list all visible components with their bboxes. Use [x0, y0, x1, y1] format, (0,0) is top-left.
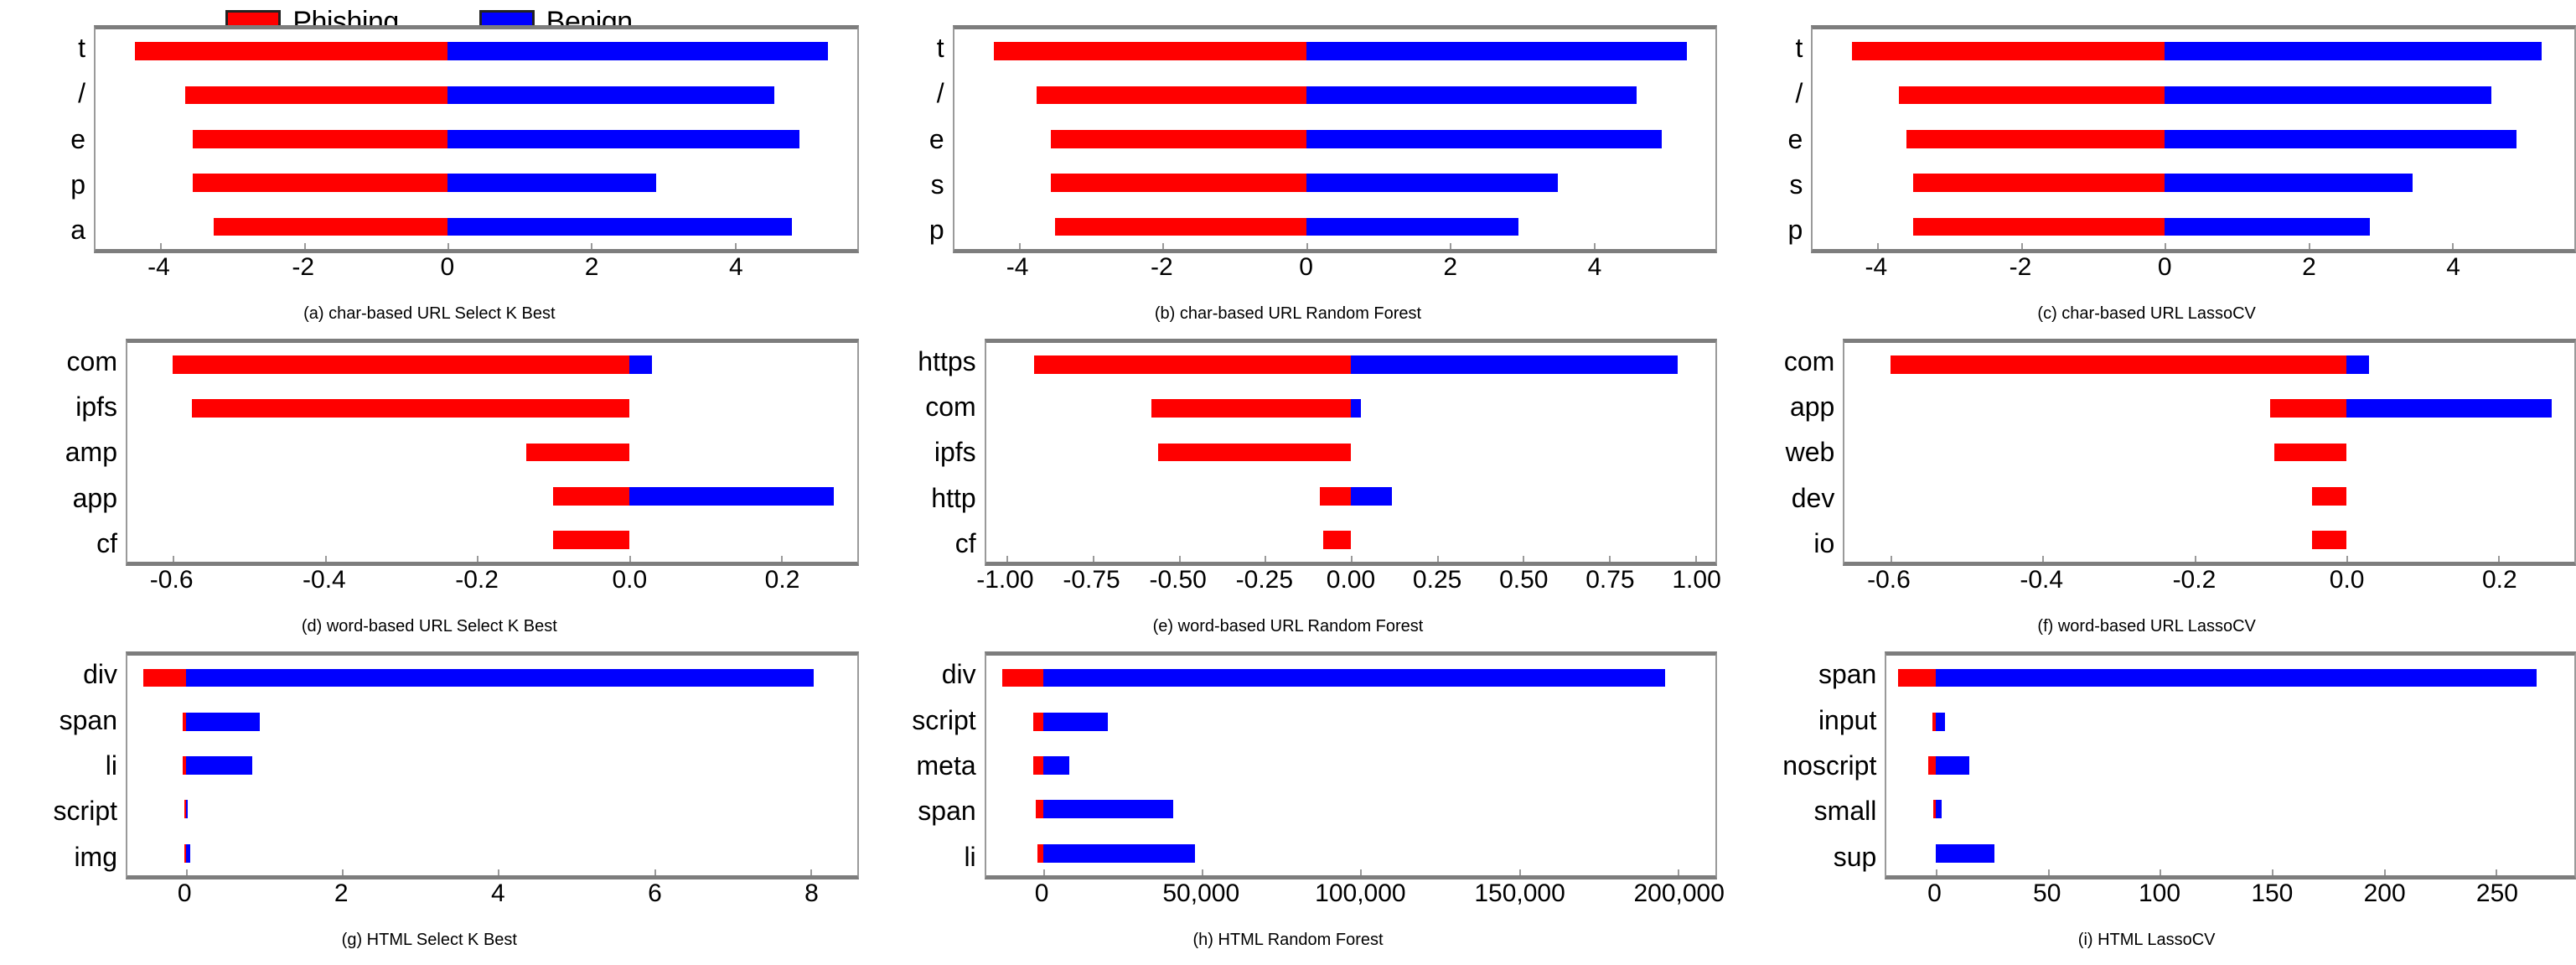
- x-tick-label: 2: [2302, 255, 2316, 280]
- bar-segment-benign: [2346, 399, 2552, 418]
- bar-segment-benign: [1043, 756, 1069, 775]
- bar-group: [986, 756, 1716, 775]
- bar-segment-phishing: [2312, 531, 2346, 549]
- y-tick-label: t: [1795, 34, 1803, 61]
- x-tickmark: [2021, 243, 2023, 249]
- y-tick-label: /: [937, 80, 944, 106]
- x-tickmark: [498, 869, 499, 875]
- bar-segment-benign: [447, 218, 792, 236]
- bar-group: [986, 800, 1716, 818]
- x-tick-label: 50,000: [1162, 881, 1239, 906]
- bar-segment-benign: [1936, 713, 1945, 731]
- subplot-caption-f: (f) word-based URL LassoCV: [1717, 610, 2576, 651]
- bar-segment-phishing: [2274, 444, 2346, 462]
- bar-group: [1844, 355, 2574, 374]
- x-tickmark: [1093, 556, 1094, 562]
- bar-segment-benign: [1043, 713, 1109, 731]
- x-tick-label: -0.25: [1236, 568, 1293, 593]
- x-tick-label: 200: [2364, 881, 2406, 906]
- y-axis-labels: divscriptmetaspanli: [859, 651, 985, 879]
- bar-group: [96, 174, 857, 192]
- x-tick-label: 150,000: [1474, 881, 1565, 906]
- y-tick-label: io: [1813, 530, 1834, 557]
- x-axis: -4-2024: [94, 253, 859, 297]
- x-tick-label: 4: [729, 255, 743, 280]
- bar-segment-phishing: [1037, 86, 1306, 105]
- bar-segment-phishing: [1051, 174, 1306, 192]
- subplot-a: t/epa-4-2024(a) char-based URL Select K …: [0, 25, 859, 339]
- bar-group: [986, 531, 1716, 549]
- x-tick-label: 0.2: [2482, 568, 2517, 593]
- x-tick-label: -4: [1865, 255, 1887, 280]
- x-tick-label: 0.75: [1585, 568, 1634, 593]
- x-tick-label: 8: [804, 881, 819, 906]
- bar-group: [127, 531, 857, 549]
- bar-segment-phishing: [135, 42, 447, 60]
- bar-segment-phishing: [1928, 756, 1936, 775]
- bar-segment-phishing: [1051, 130, 1306, 148]
- bar-segment-benign: [186, 756, 252, 775]
- bar-segment-benign: [2165, 130, 2517, 148]
- x-tick-label: 0: [1927, 881, 1942, 906]
- x-tickmark: [1360, 869, 1362, 875]
- subplot-g: divspanliscriptimg02468(g) HTML Select K…: [0, 651, 859, 965]
- x-tickmark: [1351, 556, 1353, 562]
- bar-segment-benign: [447, 86, 774, 105]
- bar-group: [127, 669, 857, 687]
- subplot-caption-b: (b) char-based URL Random Forest: [859, 297, 1718, 339]
- x-tickmark: [325, 556, 327, 562]
- x-tick-label: 0.0: [612, 568, 647, 593]
- x-tickmark: [1306, 243, 1308, 249]
- x-tick-label: -2: [1151, 255, 1173, 280]
- bar-group: [986, 669, 1716, 687]
- x-tickmark: [1609, 556, 1611, 562]
- x-tickmark: [2346, 556, 2348, 562]
- x-axis: 050100150200250: [1885, 879, 2576, 923]
- x-tickmark: [2160, 869, 2161, 875]
- bar-segment-phishing: [1852, 42, 2165, 60]
- bar-segment-benign: [447, 42, 828, 60]
- y-tick-label: t: [937, 34, 944, 61]
- y-axis-labels: divspanliscriptimg: [0, 651, 126, 879]
- bar-group: [127, 355, 857, 374]
- x-tick-label: 0.25: [1413, 568, 1461, 593]
- bar-segment-phishing: [2312, 487, 2346, 506]
- bar-group: [127, 487, 857, 506]
- x-tick-label: 4: [1588, 255, 1602, 280]
- y-tick-label: span: [59, 707, 117, 734]
- bar-group: [1886, 844, 2574, 863]
- bar-group: [1813, 218, 2574, 236]
- bar-segment-phishing: [173, 355, 628, 374]
- bar-group: [127, 800, 857, 818]
- y-tick-label: span: [1818, 661, 1876, 687]
- bar-segment-phishing: [1913, 174, 2165, 192]
- y-tick-label: /: [78, 80, 85, 106]
- x-tickmark: [1265, 556, 1266, 562]
- x-tickmark: [1678, 869, 1679, 875]
- bar-segment-phishing: [1158, 444, 1351, 462]
- x-tickmark: [1594, 243, 1596, 249]
- bar-segment-benign: [1306, 42, 1687, 60]
- plot-area: [126, 651, 859, 879]
- bar-segment-benign: [2165, 42, 2542, 60]
- x-tickmark: [1936, 869, 1937, 875]
- bar-group: [1844, 444, 2574, 462]
- x-tickmark: [1162, 243, 1164, 249]
- x-tickmark: [1695, 556, 1697, 562]
- bars-layer: [1813, 29, 2574, 249]
- y-axis-labels: spaninputnoscriptsmallsup: [1717, 651, 1885, 879]
- bar-segment-benign: [186, 800, 188, 818]
- x-tick-label: 0: [178, 881, 192, 906]
- bar-group: [127, 444, 857, 462]
- x-tickmark: [2165, 243, 2166, 249]
- x-axis: -0.6-0.4-0.20.00.2: [1843, 566, 2576, 610]
- y-axis-labels: comappwebdevio: [1717, 339, 1843, 567]
- bar-segment-benign: [186, 844, 191, 863]
- plot-area: [1843, 339, 2576, 567]
- y-tick-label: /: [1795, 80, 1803, 106]
- bar-group: [1886, 756, 2574, 775]
- x-tick-label: 0: [1299, 255, 1313, 280]
- x-tick-label: 50: [2033, 881, 2061, 906]
- bar-segment-benign: [1043, 669, 1665, 687]
- y-axis-labels: t/epa: [0, 25, 94, 253]
- x-tick-label: -0.50: [1149, 568, 1206, 593]
- x-tickmark: [477, 556, 478, 562]
- bar-segment-benign: [1936, 756, 1969, 775]
- x-tickmark: [1519, 869, 1521, 875]
- plot-area: [126, 339, 859, 567]
- x-tick-label: -0.2: [455, 568, 499, 593]
- x-tick-label: -0.4: [303, 568, 346, 593]
- bars-layer: [986, 343, 1716, 563]
- x-tickmark: [1019, 243, 1021, 249]
- x-tickmark: [1877, 243, 1879, 249]
- bar-segment-benign: [629, 355, 652, 374]
- bar-segment-phishing: [553, 531, 629, 549]
- bars-layer: [954, 29, 1716, 249]
- y-tick-label: amp: [65, 438, 117, 465]
- bars-layer: [1886, 656, 2574, 875]
- bar-segment-benign: [1936, 800, 1942, 818]
- subplot-caption-c: (c) char-based URL LassoCV: [1717, 297, 2576, 339]
- bar-segment-benign: [447, 174, 656, 192]
- bar-segment-phishing: [1151, 399, 1351, 418]
- bar-segment-phishing: [1034, 355, 1351, 374]
- x-tickmark: [591, 243, 592, 249]
- bar-group: [1813, 130, 2574, 148]
- bars-layer: [127, 656, 857, 875]
- y-tick-label: input: [1818, 707, 1876, 734]
- y-tick-label: script: [912, 707, 975, 734]
- bar-segment-benign: [1043, 844, 1196, 863]
- bar-segment-phishing: [526, 444, 628, 462]
- bar-segment-benign: [1043, 800, 1173, 818]
- x-tick-label: 100: [2139, 881, 2180, 906]
- y-tick-label: e: [1788, 126, 1803, 153]
- bars-layer: [986, 656, 1716, 875]
- bars-layer: [96, 29, 857, 249]
- x-tickmark: [2272, 869, 2273, 875]
- y-tick-label: web: [1786, 438, 1835, 465]
- bar-segment-benign: [2165, 86, 2491, 105]
- y-tick-label: app: [73, 485, 117, 511]
- bar-segment-benign: [186, 669, 815, 687]
- y-tick-label: div: [942, 661, 976, 687]
- x-tickmark: [173, 556, 174, 562]
- x-tickmark: [1043, 869, 1045, 875]
- y-tick-label: cf: [955, 530, 976, 557]
- y-tick-label: com: [925, 393, 975, 420]
- bar-group: [127, 399, 857, 418]
- bar-segment-phishing: [1036, 800, 1042, 818]
- x-tickmark: [654, 869, 656, 875]
- x-axis: -0.6-0.4-0.20.00.2: [126, 566, 859, 610]
- bar-group: [1886, 713, 2574, 731]
- bar-segment-phishing: [1906, 130, 2165, 148]
- y-tick-label: app: [1790, 393, 1834, 420]
- y-tick-label: p: [70, 171, 85, 198]
- x-tickmark: [304, 243, 306, 249]
- x-tick-label: -2: [2010, 255, 2032, 280]
- subplot-d: comipfsampappcf-0.6-0.4-0.20.00.2(d) wor…: [0, 339, 859, 652]
- bar-segment-phishing: [192, 399, 628, 418]
- x-tick-label: 4: [2446, 255, 2460, 280]
- x-tickmark: [1179, 556, 1181, 562]
- bar-segment-benign: [1351, 487, 1392, 506]
- y-tick-label: dev: [1792, 485, 1835, 511]
- y-tick-label: div: [83, 661, 117, 687]
- y-tick-label: meta: [917, 752, 976, 779]
- x-tickmark: [781, 556, 783, 562]
- bar-group: [127, 844, 857, 863]
- bar-group: [954, 130, 1716, 148]
- x-tick-label: 0.2: [765, 568, 800, 593]
- bar-segment-phishing: [1002, 669, 1043, 687]
- y-tick-label: ipfs: [934, 438, 976, 465]
- x-tickmark: [2452, 243, 2454, 249]
- x-tick-label: 250: [2476, 881, 2518, 906]
- x-tick-label: -4: [147, 255, 170, 280]
- x-tickmark: [1450, 243, 1451, 249]
- bar-segment-benign: [629, 487, 835, 506]
- y-tick-label: a: [70, 216, 85, 243]
- bar-group: [96, 42, 857, 60]
- bar-segment-phishing: [1891, 355, 2346, 374]
- x-tick-label: -1.00: [976, 568, 1033, 593]
- plot-area: [985, 651, 1718, 879]
- y-tick-label: li: [964, 843, 975, 870]
- bar-segment-benign: [1306, 218, 1518, 236]
- subplot-e: httpscomipfshttpcf-1.00-0.75-0.50-0.250.…: [859, 339, 1718, 652]
- bar-segment-phishing: [1320, 487, 1351, 506]
- bar-group: [1813, 174, 2574, 192]
- x-tickmark: [1006, 556, 1008, 562]
- bar-group: [96, 86, 857, 105]
- subplot-b: t/esp-4-2024(b) char-based URL Random Fo…: [859, 25, 1718, 339]
- plot-area: [94, 25, 859, 253]
- subplot-c: t/esp-4-2024(c) char-based URL LassoCV: [1717, 25, 2576, 339]
- x-tickmark: [2042, 556, 2044, 562]
- subplot-h: divscriptmetaspanli050,000100,000150,000…: [859, 651, 1718, 965]
- bar-group: [96, 218, 857, 236]
- x-tickmark: [447, 243, 449, 249]
- y-tick-label: ipfs: [75, 393, 117, 420]
- bars-layer: [127, 343, 857, 563]
- x-axis: -1.00-0.75-0.50-0.250.000.250.500.751.00: [985, 566, 1718, 610]
- y-tick-label: e: [929, 126, 944, 153]
- x-tick-label: 0.50: [1499, 568, 1548, 593]
- bar-segment-benign: [447, 130, 799, 148]
- x-tick-label: 2: [1443, 255, 1457, 280]
- x-tick-label: -0.6: [150, 568, 194, 593]
- x-tickmark: [2309, 243, 2310, 249]
- bar-group: [1844, 531, 2574, 549]
- bar-group: [96, 130, 857, 148]
- y-tick-label: script: [54, 797, 117, 824]
- bar-segment-phishing: [1899, 86, 2165, 105]
- y-tick-label: li: [106, 752, 117, 779]
- bar-segment-phishing: [193, 130, 447, 148]
- x-tick-label: 0.00: [1327, 568, 1375, 593]
- y-tick-label: e: [70, 126, 85, 153]
- x-tick-label: -0.2: [2173, 568, 2216, 593]
- bar-group: [954, 86, 1716, 105]
- bar-segment-benign: [1351, 355, 1678, 374]
- bar-group: [954, 174, 1716, 192]
- x-tick-label: 2: [334, 881, 349, 906]
- x-tick-label: 0: [2158, 255, 2172, 280]
- x-tick-label: -0.4: [2020, 568, 2063, 593]
- bar-group: [1813, 86, 2574, 105]
- x-tick-label: 200,000: [1633, 881, 1724, 906]
- x-axis: 02468: [126, 879, 859, 923]
- bar-segment-phishing: [1323, 531, 1351, 549]
- y-axis-labels: httpscomipfshttpcf: [859, 339, 985, 567]
- x-tick-label: 0: [1035, 881, 1049, 906]
- bar-segment-benign: [1351, 399, 1361, 418]
- bar-segment-phishing: [1913, 218, 2165, 236]
- bar-segment-phishing: [1898, 669, 1936, 687]
- subplot-caption-a: (a) char-based URL Select K Best: [0, 297, 859, 339]
- bar-segment-phishing: [2270, 399, 2346, 418]
- x-axis: 050,000100,000150,000200,000: [985, 879, 1718, 923]
- y-tick-label: s: [931, 171, 944, 198]
- bar-segment-benign: [1936, 844, 1994, 863]
- bar-group: [1844, 399, 2574, 418]
- x-tickmark: [160, 243, 162, 249]
- bar-segment-benign: [1306, 86, 1637, 105]
- bar-group: [986, 444, 1716, 462]
- bar-group: [127, 713, 857, 731]
- y-tick-label: com: [1784, 348, 1834, 375]
- y-axis-labels: t/esp: [1717, 25, 1811, 253]
- x-tickmark: [735, 243, 737, 249]
- x-tickmark: [342, 869, 344, 875]
- x-tick-label: -2: [292, 255, 314, 280]
- bars-layer: [1844, 343, 2574, 563]
- subplot-f: comappwebdevio-0.6-0.4-0.20.00.2(f) word…: [1717, 339, 2576, 652]
- plot-area: [1885, 651, 2576, 879]
- y-tick-label: small: [1814, 797, 1877, 824]
- y-tick-label: p: [929, 216, 944, 243]
- x-tickmark: [1202, 869, 1203, 875]
- x-tick-label: 6: [648, 881, 662, 906]
- x-tick-label: 1.00: [1672, 568, 1720, 593]
- bar-segment-phishing: [185, 86, 447, 105]
- bar-group: [1886, 800, 2574, 818]
- bar-segment-benign: [2165, 174, 2413, 192]
- x-tick-label: 2: [585, 255, 599, 280]
- x-tick-label: -4: [1006, 255, 1029, 280]
- y-tick-label: noscript: [1782, 752, 1876, 779]
- x-tickmark: [2048, 869, 2050, 875]
- x-tickmark: [1891, 556, 1892, 562]
- bar-segment-benign: [1306, 174, 1558, 192]
- y-axis-labels: t/esp: [859, 25, 953, 253]
- y-tick-label: img: [74, 843, 117, 870]
- subplot-caption-e: (e) word-based URL Random Forest: [859, 610, 1718, 651]
- subplot-caption-g: (g) HTML Select K Best: [0, 923, 859, 965]
- x-tick-label: 100,000: [1315, 881, 1405, 906]
- subplot-caption-d: (d) word-based URL Select K Best: [0, 610, 859, 651]
- bar-segment-phishing: [1033, 756, 1043, 775]
- bar-segment-phishing: [1033, 713, 1042, 731]
- bar-group: [986, 399, 1716, 418]
- bar-group: [1844, 487, 2574, 506]
- plot-area: [1811, 25, 2576, 253]
- y-tick-label: com: [67, 348, 117, 375]
- x-tick-label: 150: [2251, 881, 2293, 906]
- x-tickmark: [186, 869, 188, 875]
- bar-segment-benign: [2346, 355, 2369, 374]
- y-tick-label: t: [78, 34, 85, 61]
- bar-group: [986, 487, 1716, 506]
- bar-segment-benign: [1306, 130, 1662, 148]
- x-axis: -4-2024: [953, 253, 1718, 297]
- bar-segment-benign: [2165, 218, 2369, 236]
- x-tick-label: 0: [441, 255, 455, 280]
- figure-root: Phishing Benign t/epa-4-2024(a) char-bas…: [0, 0, 2576, 965]
- subplot-caption-i: (i) HTML LassoCV: [1717, 923, 2576, 965]
- subplot-grid: t/epa-4-2024(a) char-based URL Select K …: [0, 25, 2576, 965]
- x-tickmark: [629, 556, 631, 562]
- bar-group: [1813, 42, 2574, 60]
- x-tick-label: 0.0: [2330, 568, 2365, 593]
- bar-segment-benign: [186, 713, 260, 731]
- y-tick-label: s: [1789, 171, 1803, 198]
- x-axis: -4-2024: [1811, 253, 2576, 297]
- x-tickmark: [2384, 869, 2386, 875]
- bar-segment-phishing: [553, 487, 629, 506]
- bar-group: [954, 218, 1716, 236]
- subplot-i: spaninputnoscriptsmallsup050100150200250…: [1717, 651, 2576, 965]
- y-tick-label: http: [931, 485, 975, 511]
- x-tickmark: [1523, 556, 1524, 562]
- bar-group: [986, 355, 1716, 374]
- bar-group: [1886, 669, 2574, 687]
- x-tickmark: [2195, 556, 2196, 562]
- y-tick-label: span: [918, 797, 975, 824]
- x-tick-label: -0.75: [1063, 568, 1120, 593]
- bar-group: [954, 42, 1716, 60]
- y-axis-labels: comipfsampappcf: [0, 339, 126, 567]
- subplot-caption-h: (h) HTML Random Forest: [859, 923, 1718, 965]
- bar-segment-phishing: [214, 218, 447, 236]
